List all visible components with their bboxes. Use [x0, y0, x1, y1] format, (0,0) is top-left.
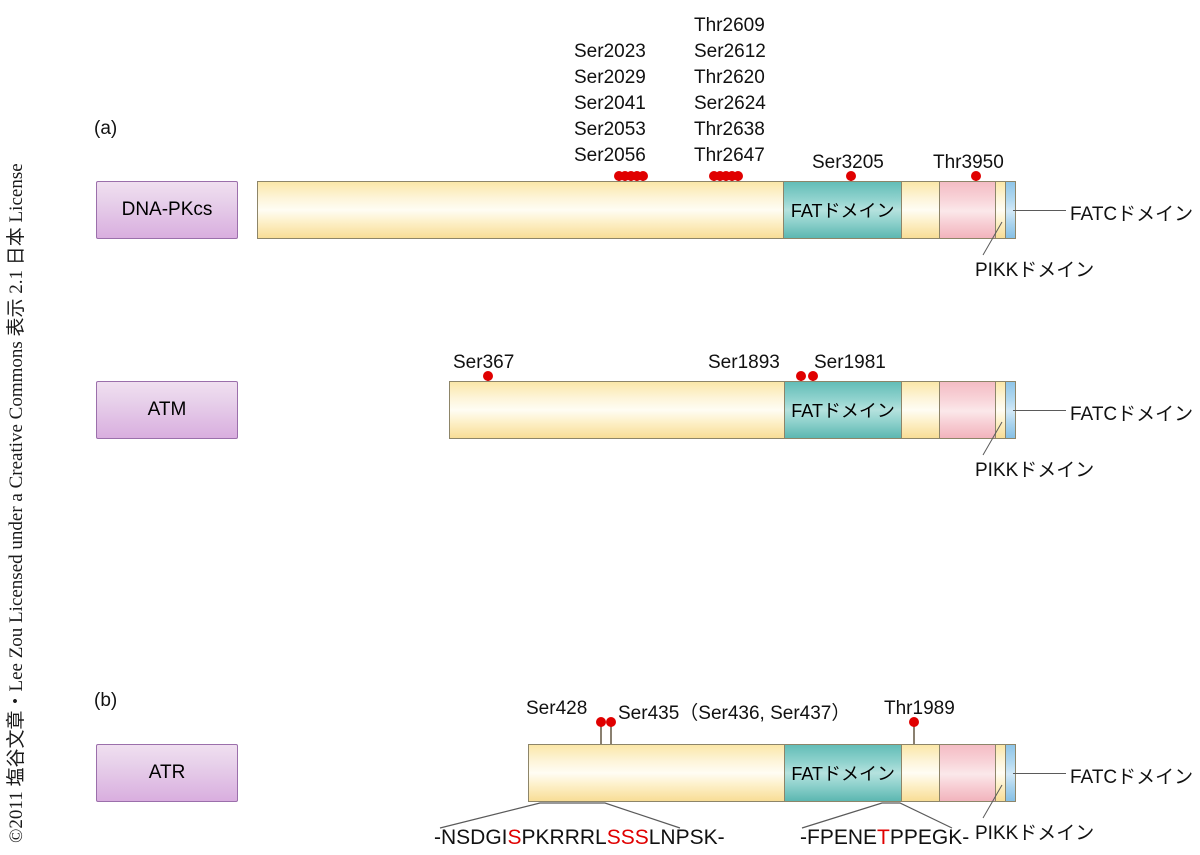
panel-label-b: (b) [94, 690, 117, 712]
protein-name-label: DNA-PKcs [122, 199, 213, 221]
site-label: Thr2609 [694, 13, 766, 39]
leader-line-fatc [1013, 773, 1066, 774]
site-label-ser1981: Ser1981 [814, 352, 886, 374]
protein-name-box-dna-pkcs: DNA-PKcs [96, 181, 238, 239]
protein-bar-dna-pkcs: FATドメイン [257, 181, 1016, 239]
site-label-ser435-group: Ser435（Ser436, Ser437） [618, 698, 850, 725]
region-spacer-2 [996, 745, 1006, 801]
sequence-part: LNPSK- [649, 826, 725, 849]
callout-label-fatc: FATCドメイン [1070, 199, 1193, 226]
site-label: Ser2041 [574, 91, 646, 117]
site-label-ser367: Ser367 [453, 352, 514, 374]
site-label-ser428: Ser428 [526, 698, 587, 720]
protein-bar-atr: FATドメイン [528, 744, 1016, 802]
region-spacer-2 [996, 382, 1006, 438]
callout-label-pikk: PIKKドメイン [975, 255, 1094, 282]
site-label: Ser2053 [574, 117, 646, 143]
site-label: Ser2029 [574, 65, 646, 91]
site-label: Ser2624 [694, 91, 766, 117]
sequence-annotation-2: -FPENETPPEGK- [800, 826, 969, 850]
region-n-terminal [258, 182, 784, 238]
callout-label-pikk: PIKKドメイン [975, 818, 1094, 845]
protein-name-box-atr: ATR [96, 744, 238, 802]
phospho-marker-thr1989 [913, 726, 915, 746]
copyright-notice: ©2011 塩谷文章・Lee Zou Licensed under a Crea… [0, 0, 34, 855]
domain-pikk [940, 382, 996, 438]
site-label-ser1893: Ser1893 [708, 352, 780, 374]
domain-fat: FATドメイン [785, 745, 903, 801]
phospho-marker-ser428 [600, 726, 602, 746]
domain-fat: FATドメイン [785, 382, 903, 438]
site-label: Ser2023 [574, 39, 646, 65]
protein-name-label: ATR [149, 762, 186, 784]
site-label-thr3950: Thr3950 [933, 152, 1004, 174]
callout-label-fatc: FATCドメイン [1070, 399, 1193, 426]
domain-pikk [940, 745, 996, 801]
phospho-marker-ser435 [610, 726, 612, 746]
sequence-annotation-1: -NSDGISPKRRRLSSSLNPSK- [434, 826, 725, 850]
region-spacer-2 [996, 182, 1006, 238]
region-n-terminal [529, 745, 785, 801]
sequence-part: PKRRRL [522, 826, 607, 849]
site-label-thr1989: Thr1989 [884, 698, 955, 720]
panel-label-a: (a) [94, 118, 117, 140]
sequence-part: PPEGK- [890, 826, 969, 849]
sequence-part-highlight: SSS [607, 826, 649, 849]
site-label-column-2: Thr2609 Ser2612 Thr2620 Ser2624 Thr2638 … [694, 13, 766, 169]
protein-name-label: ATM [148, 399, 187, 421]
region-n-terminal [450, 382, 785, 438]
callout-label-fatc: FATCドメイン [1070, 762, 1193, 789]
region-spacer [902, 382, 940, 438]
site-label: Ser2612 [694, 39, 766, 65]
region-spacer [902, 182, 940, 238]
site-label: Thr2620 [694, 65, 766, 91]
site-label: Thr2638 [694, 117, 766, 143]
sequence-part-highlight: T [877, 826, 890, 849]
leader-line-fatc [1013, 210, 1066, 211]
region-spacer [902, 745, 940, 801]
protein-name-box-atm: ATM [96, 381, 238, 439]
sequence-part: -FPENE [800, 826, 877, 849]
sequence-part: -NSDGI [434, 826, 508, 849]
leader-line-fatc [1013, 410, 1066, 411]
site-label: Thr2647 [694, 143, 766, 169]
site-label: Ser2056 [574, 143, 646, 169]
callout-label-pikk: PIKKドメイン [975, 455, 1094, 482]
sequence-connector-1 [420, 802, 750, 828]
site-label-column-1: Ser2023 Ser2029 Ser2041 Ser2053 Ser2056 [574, 39, 646, 169]
protein-bar-atm: FATドメイン [449, 381, 1016, 439]
sequence-part-highlight: S [508, 826, 522, 849]
domain-pikk [940, 182, 996, 238]
domain-fat: FATドメイン [784, 182, 902, 238]
